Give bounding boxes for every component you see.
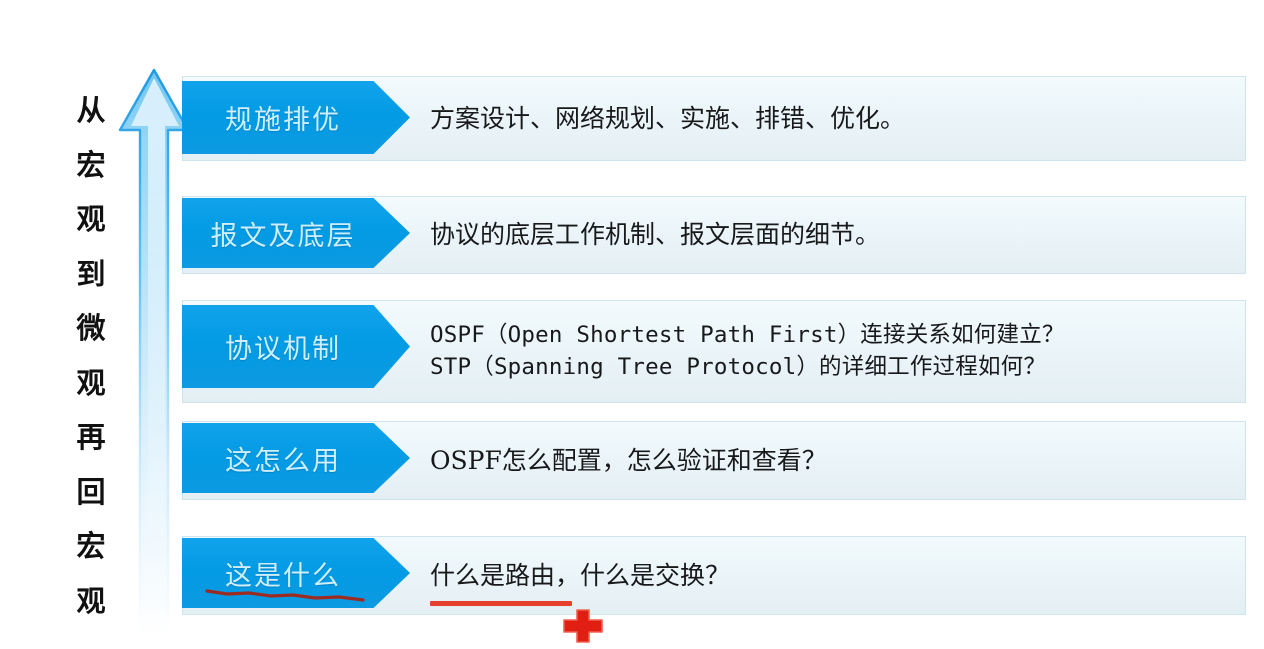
vertical-caption-char: 观	[76, 587, 105, 616]
row-description-line: STP（Spanning Tree Protocol）的详细工作过程如何？	[430, 352, 1232, 384]
vertical-caption-char: 从	[76, 96, 105, 125]
stage-chevron-tag[interactable]: 协议机制	[182, 305, 410, 388]
red-underline-annotation	[430, 601, 572, 606]
vertical-caption-char: 到	[76, 260, 105, 289]
chevron-label: 这怎么用	[225, 439, 341, 478]
vertical-caption-char: 再	[76, 423, 105, 452]
stage-row: 这怎么用 OSPF怎么配置，怎么验证和查看？	[182, 421, 1246, 500]
vertical-caption-char: 观	[76, 205, 105, 234]
vertical-caption-char: 宏	[76, 532, 105, 561]
vertical-caption-char: 回	[76, 478, 105, 507]
stage-chevron-tag[interactable]: 报文及底层	[182, 198, 410, 268]
vertical-caption: 从 宏 观 到 微 观 再 回 宏 观	[62, 96, 120, 616]
stage-chevron-tag[interactable]: 这是什么	[182, 538, 410, 608]
chevron-label: 协议机制	[225, 327, 341, 366]
row-description: OSPF怎么配置，怎么验证和查看？	[430, 421, 1232, 500]
row-description: OSPF（Open Shortest Path First）连接关系如何建立？ …	[430, 300, 1232, 403]
stage-row: 这是什么 什么是路由，什么是交换？	[182, 536, 1246, 615]
vertical-caption-char: 微	[76, 314, 105, 343]
row-description-line: OSPF怎么配置，怎么验证和查看？	[430, 443, 1232, 479]
chevron-label: 规施排优	[225, 98, 341, 137]
chevron-label: 报文及底层	[211, 214, 356, 253]
stage-row: 协议机制 OSPF（Open Shortest Path First）连接关系如…	[182, 300, 1246, 403]
row-description: 协议的底层工作机制、报文层面的细节。	[430, 196, 1232, 274]
stage-chevron-tag[interactable]: 规施排优	[182, 81, 410, 154]
stage-row: 报文及底层 协议的底层工作机制、报文层面的细节。	[182, 196, 1246, 274]
row-description-line: 方案设计、网络规划、实施、排错、优化。	[430, 101, 1232, 137]
red-plus-marker-icon	[563, 609, 603, 643]
row-description: 方案设计、网络规划、实施、排错、优化。	[430, 76, 1232, 161]
diagram-canvas: 从 宏 观 到 微 观 再 回 宏 观	[0, 0, 1264, 649]
chevron-label: 这是什么	[225, 554, 341, 593]
row-description-line: OSPF（Open Shortest Path First）连接关系如何建立？	[430, 320, 1232, 352]
vertical-caption-char: 观	[76, 369, 105, 398]
stage-row: 规施排优 方案设计、网络规划、实施、排错、优化。	[182, 76, 1246, 161]
vertical-caption-char: 宏	[76, 151, 105, 180]
row-description-line: 什么是路由，什么是交换？	[430, 558, 1232, 594]
stage-chevron-tag[interactable]: 这怎么用	[182, 423, 410, 493]
upward-arrow-icon	[118, 68, 190, 636]
row-description-line: 协议的底层工作机制、报文层面的细节。	[430, 217, 1232, 253]
